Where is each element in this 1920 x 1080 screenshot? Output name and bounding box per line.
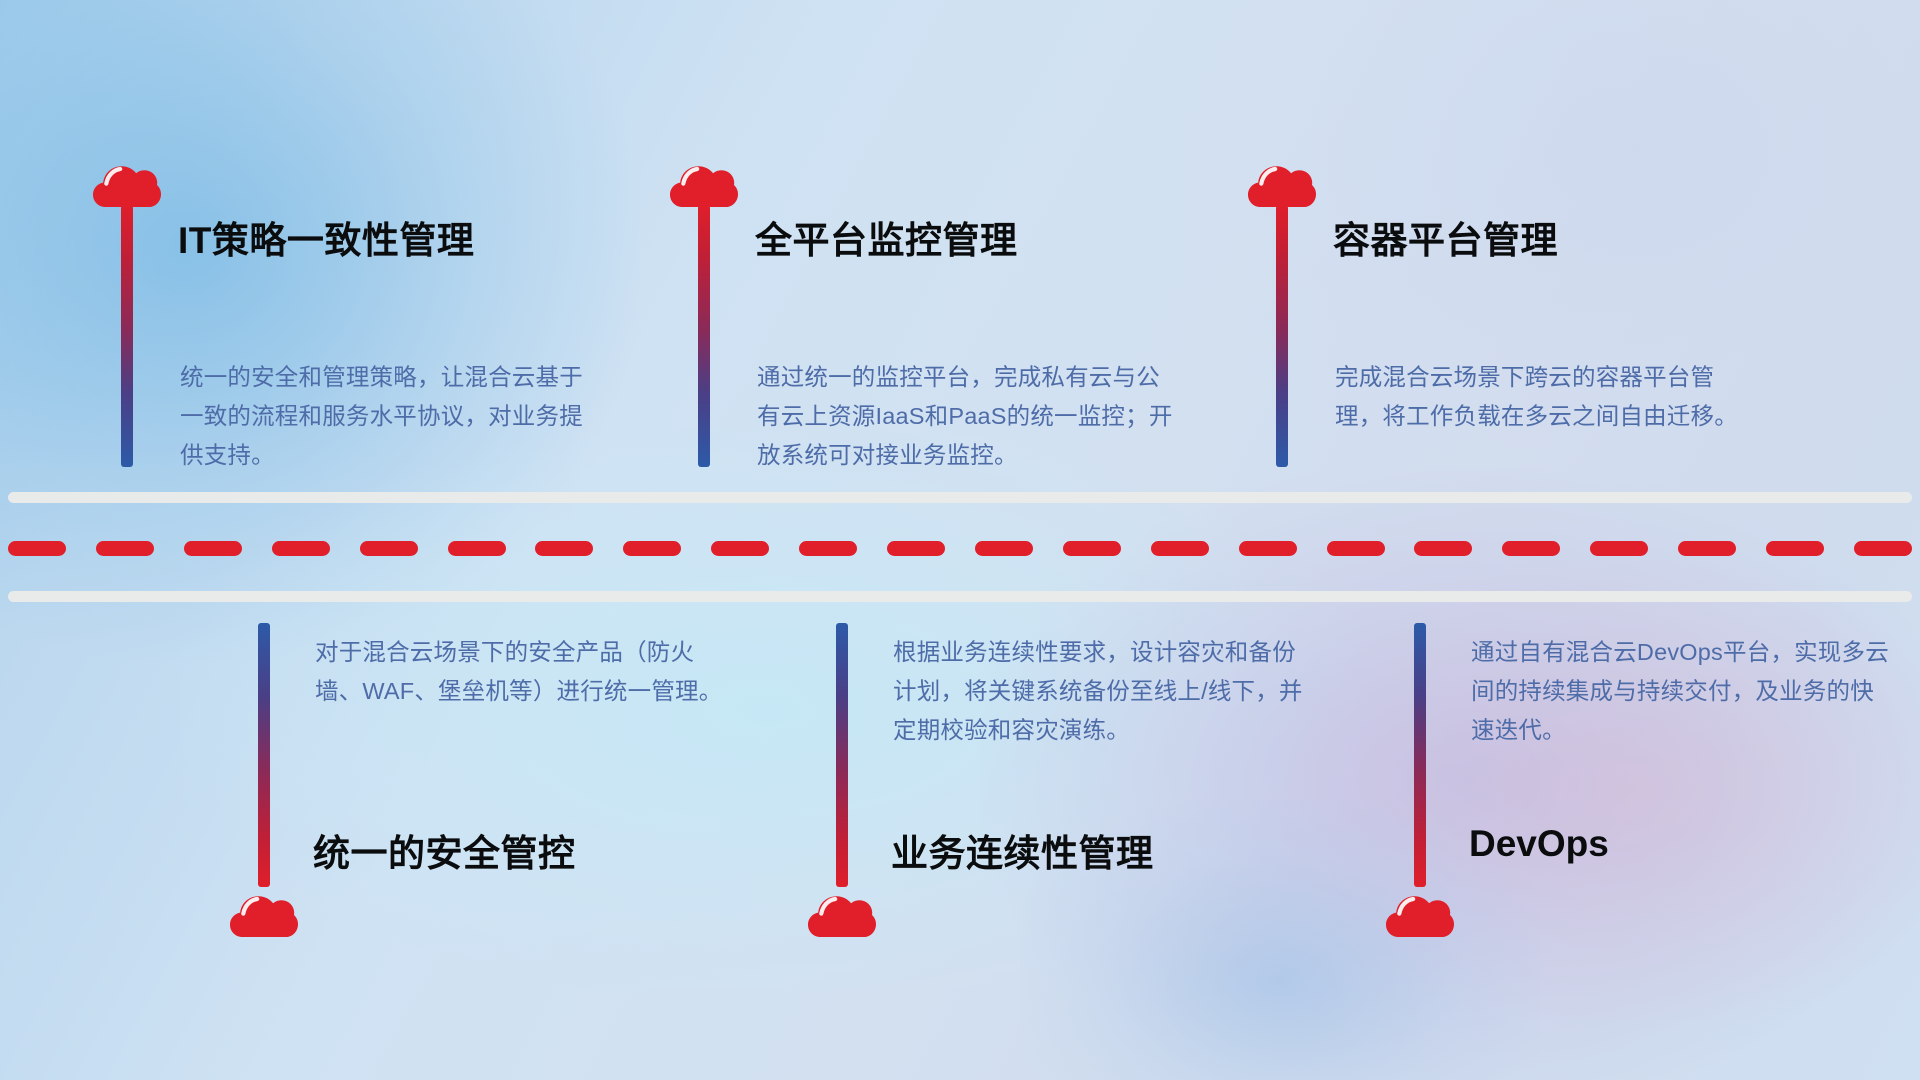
dash-segment (975, 541, 1033, 556)
dash-segment (887, 541, 945, 556)
dash-segment (535, 541, 593, 556)
card-body: 根据业务连续性要求，设计容灾和备份计划，将关键系统备份至线上/线下，并定期校验和… (893, 633, 1313, 750)
card-title: DevOps (1469, 823, 1609, 865)
connector-stem (1276, 205, 1288, 467)
solid-rule-top (8, 492, 1912, 503)
card-title: 业务连续性管理 (891, 823, 1154, 877)
cloud-icon (1248, 158, 1316, 208)
card-title: 全平台监控管理 (755, 210, 1018, 264)
dash-segment (448, 541, 506, 556)
connector-stem (121, 205, 133, 467)
dash-segment (1678, 541, 1736, 556)
dash-segment (623, 541, 681, 556)
card-body: 通过自有混合云DevOps平台，实现多云间的持续集成与持续交付，及业务的快速迭代… (1471, 633, 1891, 750)
card-title: 统一的安全管控 (313, 823, 576, 877)
card-title: IT策略一致性管理 (178, 210, 474, 264)
dash-segment (1327, 541, 1385, 556)
cloud-icon (230, 888, 298, 938)
card-title: 容器平台管理 (1333, 210, 1558, 264)
dash-segment (1239, 541, 1297, 556)
dash-segment (8, 541, 66, 556)
connector-stem (836, 623, 848, 887)
connector-stem (698, 205, 710, 467)
cloud-icon (670, 158, 738, 208)
dash-segment (1590, 541, 1648, 556)
dash-segment (711, 541, 769, 556)
connector-stem (258, 623, 270, 887)
dash-segment (799, 541, 857, 556)
dash-segment (360, 541, 418, 556)
solid-rule-bottom (8, 591, 1912, 602)
cloud-icon (1386, 888, 1454, 938)
connector-stem (1414, 623, 1426, 887)
dash-segment (1502, 541, 1560, 556)
card-body: 通过统一的监控平台，完成私有云与公有云上资源IaaS和PaaS的统一监控；开放系… (757, 358, 1177, 475)
card-body: 统一的安全和管理策略，让混合云基于一致的流程和服务水平协议，对业务提供支持。 (180, 358, 600, 475)
dash-segment (96, 541, 154, 556)
card-body: 对于混合云场景下的安全产品（防火墙、WAF、堡垒机等）进行统一管理。 (315, 633, 735, 711)
dash-segment (1766, 541, 1824, 556)
dash-segment (272, 541, 330, 556)
dash-segment (184, 541, 242, 556)
dash-segment (1854, 541, 1912, 556)
card-body: 完成混合云场景下跨云的容器平台管理，将工作负载在多云之间自由迁移。 (1335, 358, 1755, 436)
dashed-road-line (8, 541, 1912, 556)
dash-segment (1063, 541, 1121, 556)
dash-segment (1414, 541, 1472, 556)
cloud-icon (93, 158, 161, 208)
dash-segment (1151, 541, 1209, 556)
cloud-icon (808, 888, 876, 938)
